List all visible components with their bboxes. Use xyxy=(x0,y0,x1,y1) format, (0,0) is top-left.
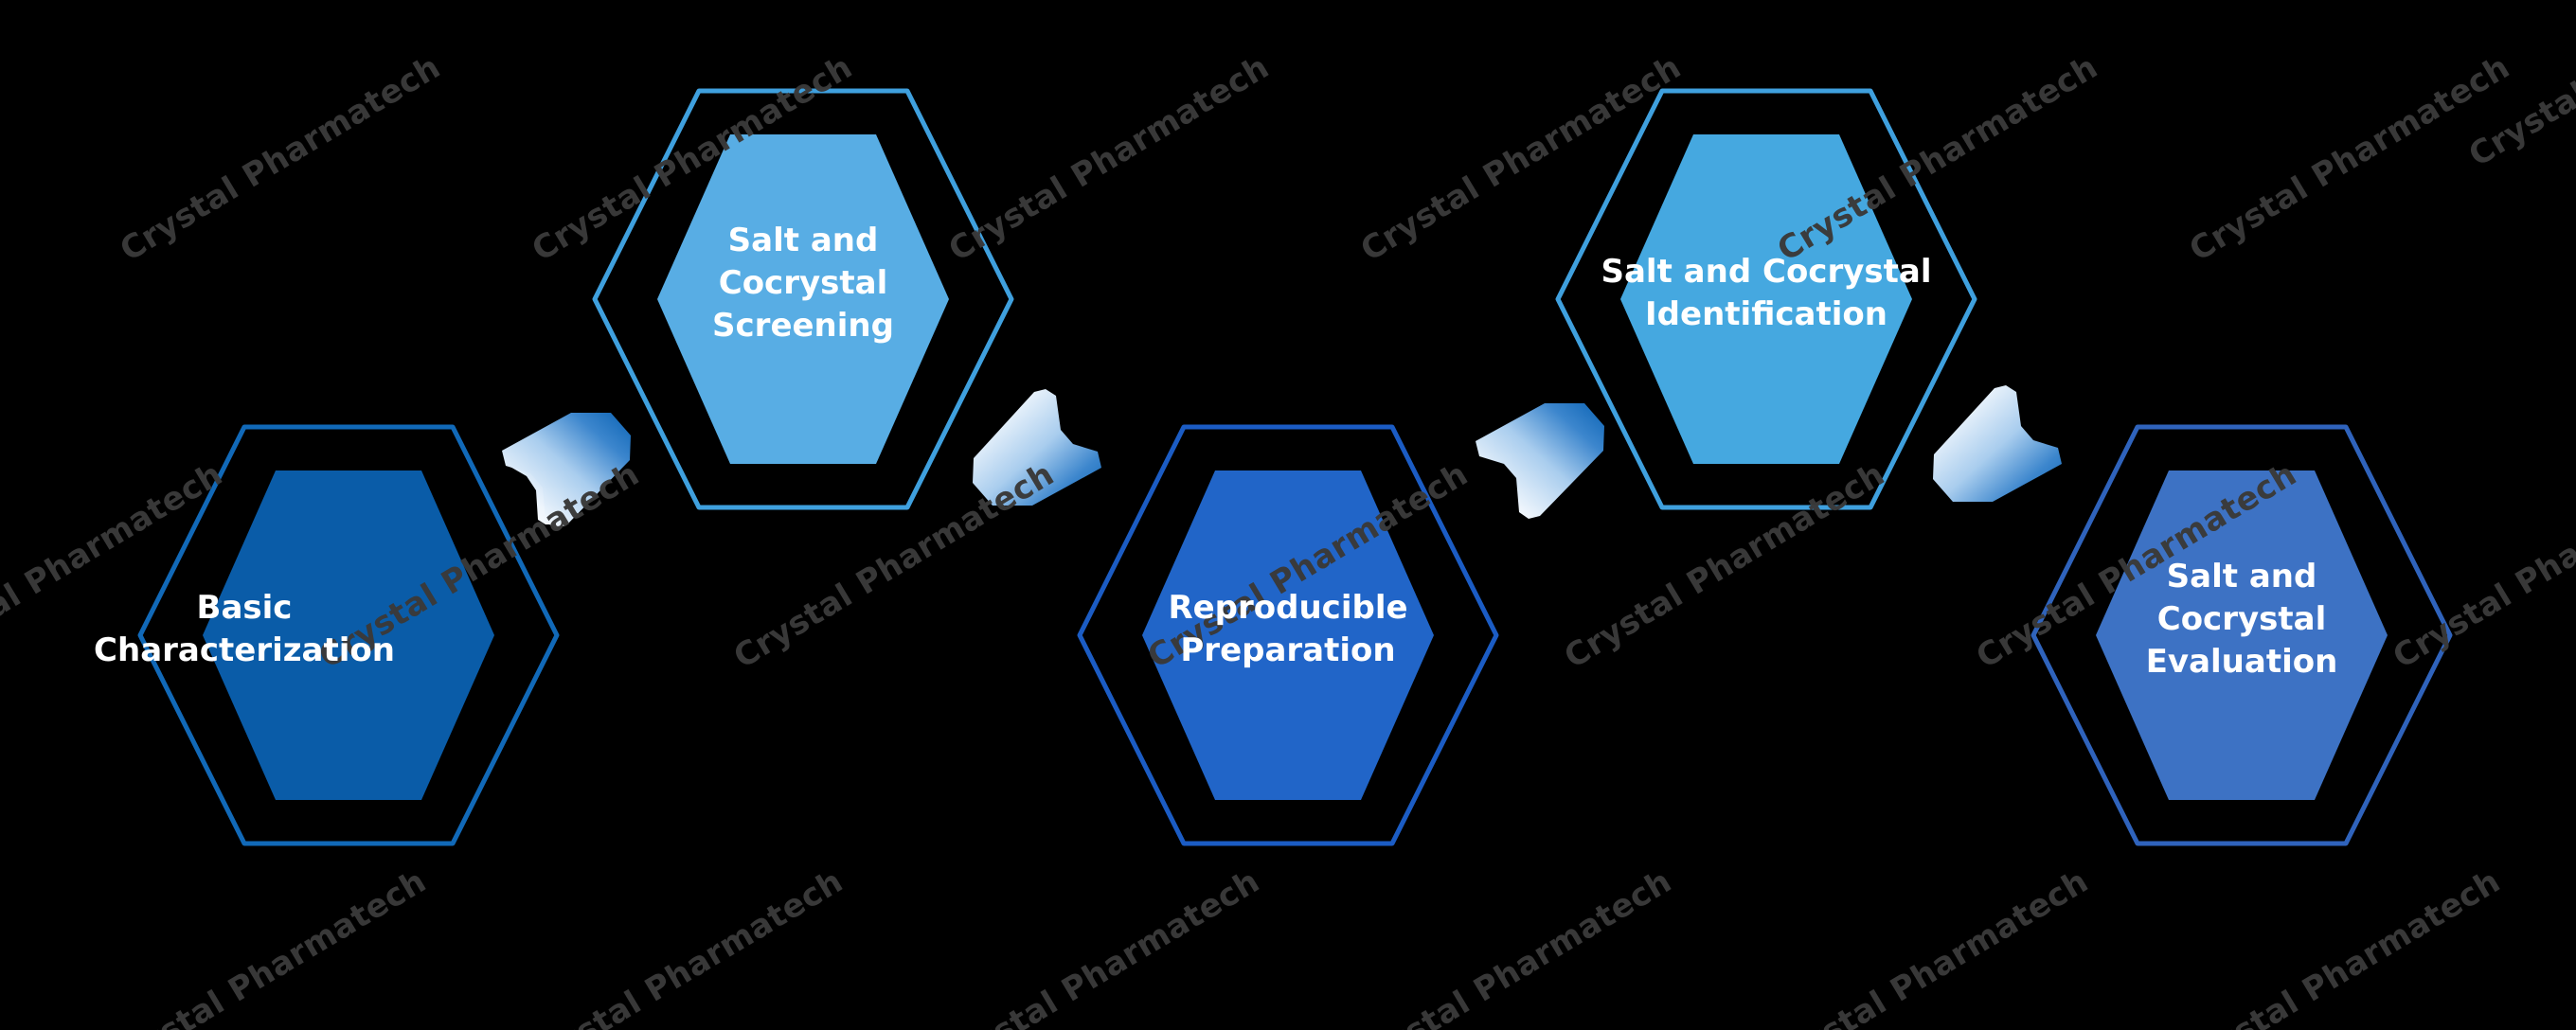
connector-arrow-4 xyxy=(1933,385,2062,502)
connector-arrow-1 xyxy=(499,413,632,530)
node-5-fill-hexagon xyxy=(2096,471,2388,800)
node-4-fill-hexagon xyxy=(1620,134,1912,464)
arrow-4-chevron xyxy=(1933,385,2062,502)
node-2-fill-hexagon xyxy=(657,134,949,464)
node-3-fill-hexagon xyxy=(1142,471,1434,800)
node-1-fill-hexagon xyxy=(203,471,494,800)
node-5-salt-cocrystal-evaluation[interactable] xyxy=(2033,427,2450,844)
process-flow-graphic xyxy=(0,0,2576,1030)
arrow-1-chevron xyxy=(502,413,631,528)
node-4-salt-cocrystal-identification[interactable] xyxy=(1558,91,1975,507)
node-1-basic-characterization[interactable] xyxy=(140,426,557,844)
arrow-3-chevron xyxy=(1476,403,1604,519)
connector-arrow-3 xyxy=(1476,403,1604,519)
node-3-reproducible-preparation[interactable] xyxy=(1080,427,1496,844)
arrow-2-chevron xyxy=(973,389,1101,506)
diagram-canvas: Crystal PharmatechCrystal PharmatechCrys… xyxy=(0,0,2576,1030)
connector-arrow-2 xyxy=(973,389,1101,506)
node-2-salt-cocrystal-screening[interactable] xyxy=(595,91,1011,507)
